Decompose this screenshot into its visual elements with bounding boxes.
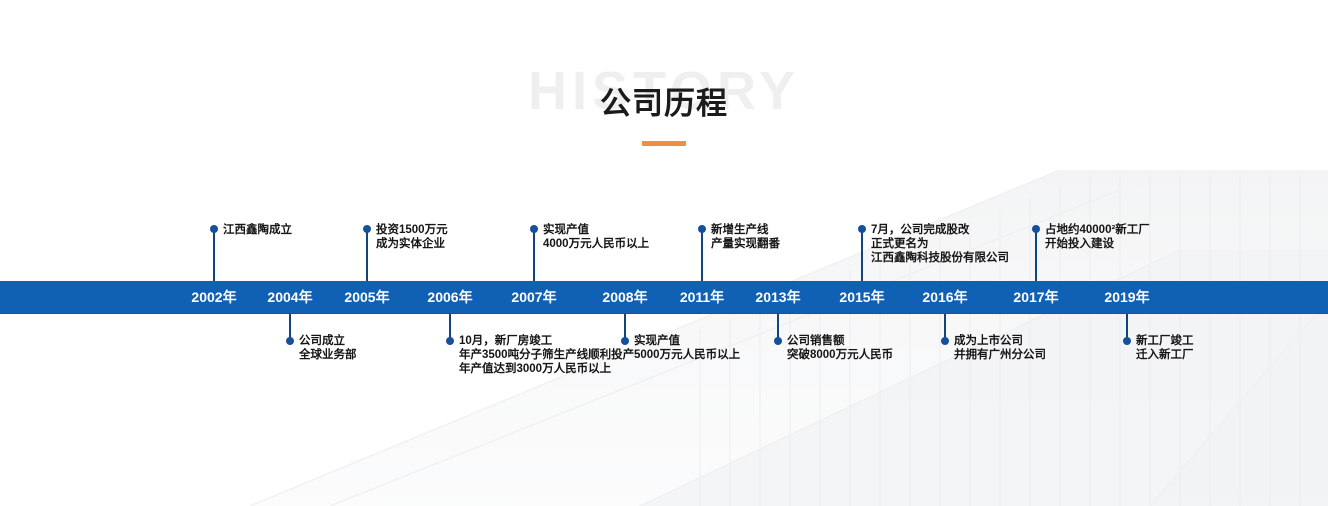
timeline-event-text: 10月，新厂房竣工年产3500吨分子筛生产线顺利投产年产值达到3000万人民币以… xyxy=(459,334,634,376)
timeline-node-dot[interactable] xyxy=(774,337,782,345)
timeline-event-text: 新工厂竣工迁入新工厂 xyxy=(1136,334,1194,362)
timeline-connector-stem xyxy=(366,232,368,284)
timeline-node-dot[interactable] xyxy=(363,225,371,233)
timeline-node-dot[interactable] xyxy=(698,225,706,233)
timeline-event-line: 公司成立 xyxy=(299,334,357,348)
timeline-year-label[interactable]: 2019年 xyxy=(1085,288,1169,307)
timeline-year-label[interactable]: 2006年 xyxy=(408,288,492,307)
timeline-event-text: 公司成立全球业务部 xyxy=(299,334,357,362)
timeline-event-line: 迁入新工厂 xyxy=(1136,348,1194,362)
timeline-event-line: 成为实体企业 xyxy=(376,237,448,251)
timeline-event-text: 成为上市公司并拥有广州分公司 xyxy=(954,334,1046,362)
timeline-event-text: 投资1500万元成为实体企业 xyxy=(376,223,448,251)
timeline-event-line: 新增生产线 xyxy=(711,223,780,237)
timeline-connector-stem xyxy=(213,232,215,284)
timeline-event-line: 7月，公司完成股改 xyxy=(871,223,1009,237)
timeline-year-label[interactable]: 2008年 xyxy=(583,288,667,307)
timeline-event-line: 实现产值 xyxy=(543,223,649,237)
timeline-event-line: 产量实现翻番 xyxy=(711,237,780,251)
timeline-event-line: 全球业务部 xyxy=(299,348,357,362)
timeline-node-dot[interactable] xyxy=(530,225,538,233)
timeline-node-dot[interactable] xyxy=(941,337,949,345)
timeline-year-label[interactable]: 2011年 xyxy=(660,288,744,307)
timeline-event-line: 实现产值 xyxy=(634,334,740,348)
timeline-event-line: 开始投入建设 xyxy=(1045,237,1150,251)
page-header: HISTORY 公司历程 xyxy=(0,62,1328,162)
title-underline-accent xyxy=(642,141,686,146)
timeline-event-text: 占地约40000²新工厂开始投入建设 xyxy=(1045,223,1150,251)
timeline-node-dot[interactable] xyxy=(446,337,454,345)
timeline-event-line: 年产值达到3000万人民币以上 xyxy=(459,362,634,376)
timeline-event-line: 正式更名为 xyxy=(871,237,1009,251)
timeline-connector-stem xyxy=(861,232,863,284)
timeline-event-line: 公司销售额 xyxy=(787,334,893,348)
timeline-connector-stem xyxy=(1035,232,1037,284)
timeline-event-line: 新工厂竣工 xyxy=(1136,334,1194,348)
timeline-event-text: 新增生产线产量实现翻番 xyxy=(711,223,780,251)
timeline-year-label[interactable]: 2002年 xyxy=(172,288,256,307)
timeline-year-label[interactable]: 2007年 xyxy=(492,288,576,307)
timeline-event-line: 年产3500吨分子筛生产线顺利投产 xyxy=(459,348,634,362)
page-title: 公司历程 xyxy=(0,84,1328,124)
timeline-event-text: 实现产值5000万元人民币以上 xyxy=(634,334,740,362)
timeline-event-line: 10月，新厂房竣工 xyxy=(459,334,634,348)
timeline-event-text: 公司销售额突破8000万元人民币 xyxy=(787,334,893,362)
timeline-event-text: 实现产值4000万元人民币以上 xyxy=(543,223,649,251)
timeline-event-line: 突破8000万元人民币 xyxy=(787,348,893,362)
timeline-event-text: 江西鑫陶成立 xyxy=(223,223,292,237)
timeline-year-label[interactable]: 2005年 xyxy=(325,288,409,307)
timeline-connector-stem xyxy=(701,232,703,284)
timeline-connector-stem xyxy=(533,232,535,284)
timeline-node-dot[interactable] xyxy=(286,337,294,345)
timeline-year-label[interactable]: 2015年 xyxy=(820,288,904,307)
timeline-event-line: 4000万元人民币以上 xyxy=(543,237,649,251)
timeline-year-label[interactable]: 2004年 xyxy=(248,288,332,307)
timeline-event-line: 江西鑫陶科技股份有限公司 xyxy=(871,251,1009,265)
timeline-event-text: 7月，公司完成股改正式更名为江西鑫陶科技股份有限公司 xyxy=(871,223,1009,265)
history-timeline-page: HISTORY 公司历程 2002年江西鑫陶成立2004年公司成立全球业务部20… xyxy=(0,0,1328,506)
timeline-event-line: 5000万元人民币以上 xyxy=(634,348,740,362)
timeline-year-label[interactable]: 2017年 xyxy=(994,288,1078,307)
timeline-event-line: 江西鑫陶成立 xyxy=(223,223,292,237)
timeline-node-dot[interactable] xyxy=(858,225,866,233)
timeline-event-line: 并拥有广州分公司 xyxy=(954,348,1046,362)
timeline-event-line: 占地约40000²新工厂 xyxy=(1045,223,1150,237)
timeline-event-line: 成为上市公司 xyxy=(954,334,1046,348)
timeline-node-dot[interactable] xyxy=(210,225,218,233)
timeline-year-label[interactable]: 2016年 xyxy=(903,288,987,307)
timeline-node-dot[interactable] xyxy=(621,337,629,345)
timeline-node-dot[interactable] xyxy=(1123,337,1131,345)
timeline-year-label[interactable]: 2013年 xyxy=(736,288,820,307)
timeline-event-line: 投资1500万元 xyxy=(376,223,448,237)
timeline-node-dot[interactable] xyxy=(1032,225,1040,233)
